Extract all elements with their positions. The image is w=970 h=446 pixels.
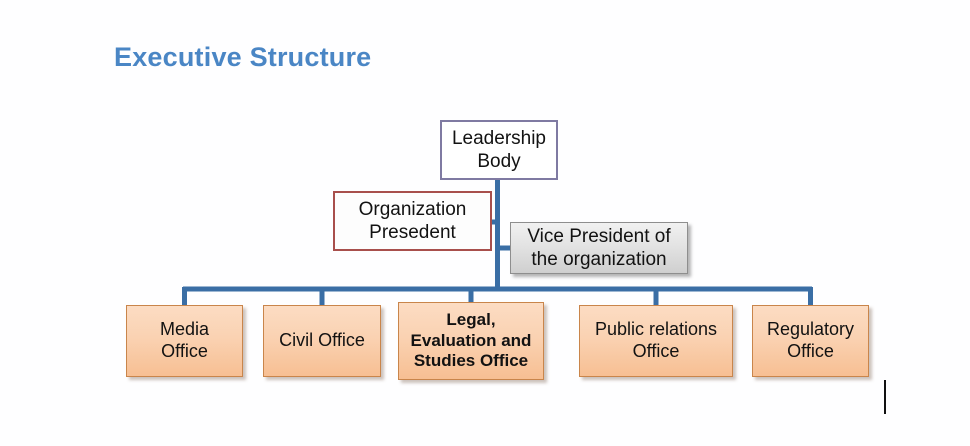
node-org-president-label: Organization Presedent xyxy=(355,198,471,244)
node-civil-office[interactable]: Civil Office xyxy=(263,305,381,377)
node-org-president[interactable]: Organization Presedent xyxy=(333,191,492,251)
node-legal-office-label: Legal, Evaluation and Studies Office xyxy=(407,310,536,372)
node-public-relations-office[interactable]: Public relations Office xyxy=(579,305,733,377)
org-chart-canvas: Executive Structure Leadership Body Orga… xyxy=(0,0,970,446)
node-vice-president-label: Vice President of the organization xyxy=(523,225,674,271)
node-public-relations-office-label: Public relations Office xyxy=(591,319,721,363)
node-legal-office[interactable]: Legal, Evaluation and Studies Office xyxy=(398,302,544,380)
node-leadership-body[interactable]: Leadership Body xyxy=(440,120,558,180)
node-media-office[interactable]: Media Office xyxy=(126,305,243,377)
vertical-rule-mark xyxy=(884,380,886,414)
node-regulatory-office[interactable]: Regulatory Office xyxy=(752,305,869,377)
node-leadership-body-label: Leadership Body xyxy=(448,127,550,173)
node-regulatory-office-label: Regulatory Office xyxy=(763,319,858,363)
page-title: Executive Structure xyxy=(114,42,371,73)
node-media-office-label: Media Office xyxy=(156,319,213,363)
node-civil-office-label: Civil Office xyxy=(275,330,369,352)
node-vice-president[interactable]: Vice President of the organization xyxy=(510,222,688,274)
